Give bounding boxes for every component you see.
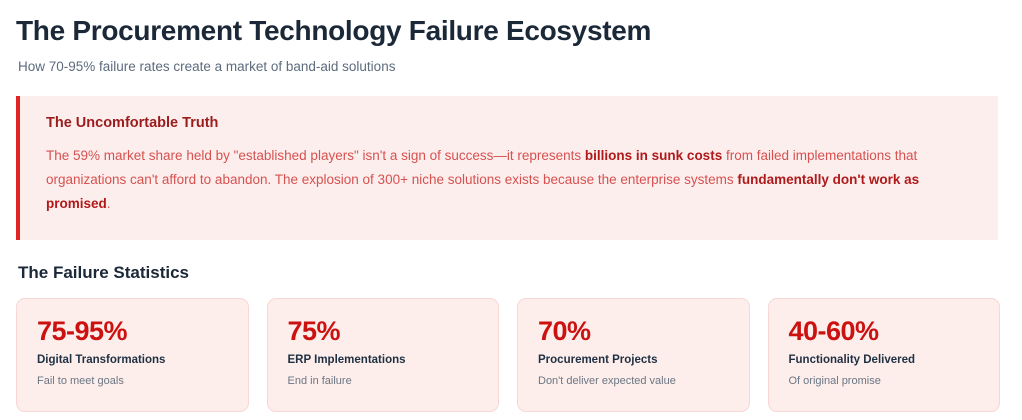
stat-value: 70%: [538, 315, 731, 347]
stat-value: 40-60%: [789, 315, 982, 347]
stat-value: 75%: [288, 315, 481, 347]
page-title: The Procurement Technology Failure Ecosy…: [16, 12, 1000, 48]
callout-body-bold-1: billions in sunk costs: [585, 148, 722, 163]
uncomfortable-truth-callout: The Uncomfortable Truth The 59% market s…: [16, 96, 998, 240]
stat-card: 75% ERP Implementations End in failure: [267, 298, 500, 412]
callout-body-segment-3: .: [107, 196, 111, 211]
stat-card-grid: 75-95% Digital Transformations Fail to m…: [16, 298, 1000, 412]
page-root: The Procurement Technology Failure Ecosy…: [0, 0, 1022, 420]
stat-value: 75-95%: [37, 315, 230, 347]
stat-card: 75-95% Digital Transformations Fail to m…: [16, 298, 249, 412]
callout-body-segment-1: The 59% market share held by "establishe…: [46, 148, 585, 163]
page-subtitle: How 70-95% failure rates create a market…: [18, 58, 1000, 76]
stat-card: 70% Procurement Projects Don't deliver e…: [517, 298, 750, 412]
stat-label: Procurement Projects: [538, 353, 731, 368]
stat-card: 40-60% Functionality Delivered Of origin…: [768, 298, 1001, 412]
section-heading-failure-statistics: The Failure Statistics: [18, 262, 1000, 284]
stat-sublabel: Don't deliver expected value: [538, 374, 731, 388]
stat-sublabel: End in failure: [288, 374, 481, 388]
stat-sublabel: Of original promise: [789, 374, 982, 388]
callout-heading: The Uncomfortable Truth: [46, 114, 976, 132]
stat-sublabel: Fail to meet goals: [37, 374, 230, 388]
stat-label: ERP Implementations: [288, 353, 481, 368]
stat-label: Functionality Delivered: [789, 353, 982, 368]
callout-body: The 59% market share held by "establishe…: [46, 144, 976, 216]
stat-label: Digital Transformations: [37, 353, 230, 368]
